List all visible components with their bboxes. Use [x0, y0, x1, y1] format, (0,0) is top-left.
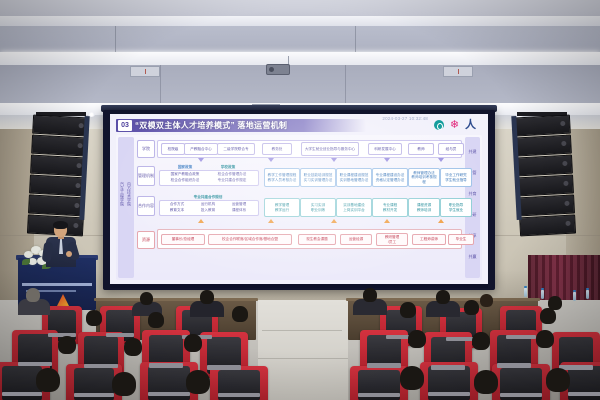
row1-chip-5: 科研发展中心: [368, 143, 402, 155]
row2-policy-0: 国家产教融合政策: [162, 172, 208, 177]
slide-body: 汽车工程学院 内方技术学院 共建 共管 共育 共研 共享 共赢 学院 管理机制 …: [116, 135, 482, 280]
row3-plan-2: 运营管理: [224, 202, 254, 207]
ceiling-seam: [160, 65, 161, 103]
ceiling-slab-a: [0, 26, 600, 52]
row-label-1: 管理机制: [137, 166, 155, 186]
podium-banner-text-line1: [22, 283, 92, 286]
row1-chip-2: 二级学院联合专: [217, 143, 255, 155]
row3-chip-3: 专业课程 教材开发: [372, 198, 408, 217]
attendee-head: [124, 338, 142, 356]
ceiling-air-vent: [130, 66, 160, 77]
projector-lens: [269, 67, 274, 72]
row4-chip-0: 董事长/总经理: [161, 234, 205, 245]
aisle-tile-line: [262, 330, 342, 331]
row4-chip-4: 教研管理 /员工: [376, 233, 408, 246]
attendee-head: [200, 290, 214, 304]
speaker-cabinet: [517, 175, 574, 197]
attendee-head: [474, 370, 498, 394]
seat: [492, 364, 550, 400]
presenter: [42, 222, 82, 264]
ceiling-upper-panel: [0, 0, 600, 16]
presenter-hair: [53, 221, 68, 229]
flower-leaf: [22, 259, 30, 265]
attendee-head: [36, 368, 60, 392]
row4-chip-2: 现生教会课题: [298, 234, 336, 245]
water-bottle: [541, 290, 544, 299]
right-rail-item: 共赢: [465, 254, 480, 260]
row2-chip-2: 职业课程建设规范 实训基地管理办法: [336, 168, 372, 187]
slide-title: “双模双主体人才培养模式” 落地运营机制: [135, 120, 287, 131]
ceiling-light-strip-2: [0, 52, 600, 65]
row4-chip-6: 毕业生: [448, 234, 474, 245]
audience-desk-left-top: [94, 298, 258, 301]
attendee-head: [232, 306, 248, 322]
row-label-3: 资源: [137, 231, 155, 249]
row4-chip-1: 校企合作联席/区域合作席/基地合盟: [208, 234, 292, 245]
speaker-cabinet: [519, 214, 576, 236]
row3-plan-4: 投入教育: [193, 208, 223, 213]
speaker-cabinet: [30, 155, 87, 177]
flow-arrow-up: [438, 219, 444, 223]
center-aisle: [258, 300, 348, 400]
row3-chip-1: 实习实训 职业训练: [300, 198, 336, 217]
attendee-head: [536, 330, 554, 348]
speaker-cabinet: [28, 195, 85, 217]
slide-timestamp: 2024-03-27 10:32:48: [382, 116, 428, 121]
speaker-cabinet: [516, 155, 573, 177]
row4-chip-3: 运营经源: [340, 234, 372, 245]
flow-arrow-down: [268, 158, 274, 162]
left-rail-label-2: 内方技术学院: [126, 159, 132, 229]
attendee-head: [400, 366, 424, 390]
row1-chip-3: 教务处: [262, 143, 292, 155]
row3-plan-1: 运行机构: [193, 202, 223, 207]
right-rail-item: 共育: [465, 191, 480, 197]
ceiling-seam: [115, 26, 116, 52]
slide-left-rail: 汽车工程学院 内方技术学院: [118, 137, 134, 278]
presenter-hand: [66, 251, 72, 257]
row2-chip-1: 职业技能培训规范 实习实训管理办法: [300, 168, 336, 187]
row2-policy-2: 校企合作组织办法: [162, 178, 208, 183]
flow-arrow-down: [331, 158, 337, 162]
flow-arrow-down: [384, 158, 390, 162]
row2-policy-1: 校企合作管理办法: [209, 172, 255, 177]
slide-number: 03: [118, 120, 132, 131]
attendee-head: [464, 300, 479, 315]
attendee-head: [436, 290, 450, 304]
attendee-head: [408, 330, 426, 348]
attendee-head: [546, 368, 570, 392]
speaker-cabinet: [31, 135, 88, 157]
speaker-cabinet: [29, 175, 86, 197]
row3-chip-2: 实训基地建设 上岗实训平台: [336, 198, 372, 217]
teal-circle-logo-icon: [434, 120, 444, 130]
flow-arrow-up: [331, 219, 337, 223]
attendee-head: [86, 310, 102, 326]
water-bottle: [586, 290, 589, 299]
attendee-head: [400, 302, 416, 318]
attendee-head: [184, 334, 202, 352]
row4-chip-5: 工程师讲师: [412, 234, 446, 245]
speaker-cabinet: [514, 115, 571, 137]
screen-bottom-bar: [110, 284, 488, 288]
row3-chip-5: 职业指导 学生就业: [440, 198, 472, 217]
row3-plan-0: 合作方式: [162, 202, 192, 207]
attendee-head: [58, 336, 76, 354]
row1-chip-4: 大学生就业创业指导与服务中心: [301, 142, 359, 156]
row1-chip-1: 产教融合中心: [184, 143, 218, 155]
seat: [210, 366, 268, 400]
row2-chip-5: 毕业工作研究 学生就业指导: [440, 168, 472, 187]
ceiling-light-strip-1: [0, 16, 600, 26]
left-speaker-array: [30, 112, 86, 232]
row2-chip-3: 专业课程建设办法 资格认定管理办法: [372, 168, 408, 187]
attendee-head: [140, 292, 153, 305]
right-speaker-array: [515, 112, 571, 232]
row1-chip-0: 校院级: [161, 143, 185, 155]
right-rail-item: 共建: [465, 149, 480, 155]
ceiling-seam: [345, 65, 346, 103]
ceiling-air-vent: [443, 66, 473, 77]
row1-chip-6: 教师: [408, 143, 434, 155]
ceiling-slab-b: [0, 65, 600, 103]
row1-chip-7: 经与员: [438, 143, 464, 155]
flow-arrow-up: [384, 219, 390, 223]
attendee-head: [148, 312, 164, 328]
row2-chip-0: 教学工作管理规程 教学人员考核办法: [264, 168, 300, 187]
ceiling-seam: [355, 26, 356, 52]
left-rail-label-1: 汽车工程学院: [119, 159, 125, 229]
row3-plan-3: 教育文本: [162, 208, 192, 213]
row3-chip-4: 课程资源 教师培训: [408, 198, 440, 217]
row3-chip-0: 教学管理 教学运行: [264, 198, 300, 217]
attendee-head: [363, 288, 377, 302]
speaker-cabinet: [515, 135, 572, 157]
attendee-head: [186, 370, 210, 394]
projection-screen: 03 “双模双主体人才培养模式” 落地运营机制 2024-03-27 10:32…: [110, 114, 488, 284]
auditorium-photo: 03 “双模双主体人才培养模式” 落地运营机制 2024-03-27 10:32…: [0, 0, 600, 400]
presentation-slide: 03 “双模双主体人才培养模式” 落地运营机制 2024-03-27 10:32…: [110, 114, 488, 284]
row-label-0: 学院: [137, 140, 155, 158]
flow-arrow-up: [198, 219, 204, 223]
ceiling-projector: [266, 64, 290, 75]
attendee-head: [112, 372, 136, 396]
attendee-head: [472, 332, 490, 350]
row2-chip-4: 教师管理办法 教师培训考核规程: [408, 168, 440, 187]
water-bottle: [524, 288, 527, 297]
huawei-flower-logo-icon: ❄: [449, 120, 460, 131]
attendee-head: [26, 288, 40, 302]
row-label-2: 合作内容: [137, 196, 155, 216]
attendee-head: [480, 294, 493, 307]
seat: [350, 366, 408, 400]
water-bottle: [573, 292, 576, 301]
flow-arrow-down: [198, 158, 204, 162]
attendee-head: [540, 308, 556, 324]
flow-arrow-up: [268, 219, 274, 223]
row3-plan-5: 课程体系: [224, 208, 254, 213]
blue-person-logo-icon: 人: [465, 119, 476, 131]
speaker-cabinet: [518, 195, 575, 217]
speaker-cabinet: [32, 115, 89, 137]
row2-policy-3: 专业共建合作规定: [209, 178, 255, 183]
aisle-tile-line: [258, 358, 348, 359]
flow-arrow-down: [438, 158, 444, 162]
